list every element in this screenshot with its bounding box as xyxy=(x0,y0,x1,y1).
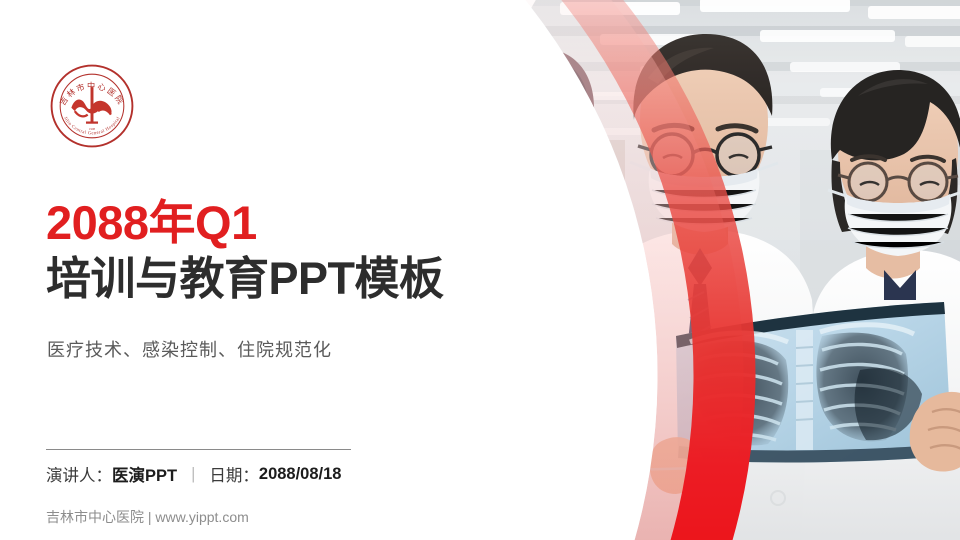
speaker-name: 医演PPT xyxy=(112,462,177,486)
hospital-logo: 吉林市中心医院 Jilin Central General Hospital 1… xyxy=(49,63,135,149)
presenter-meta: 演讲人： 医演PPT | 日期： 2088/08/18 xyxy=(46,462,341,486)
presentation-slide: 吉林市中心医院 Jilin Central General Hospital 1… xyxy=(0,0,960,540)
title-block: 2088年Q1 培训与教育PPT模板 xyxy=(46,196,516,306)
footer-divider xyxy=(46,449,351,450)
page-subtitle: 医疗技术、感染控制、住院规范化 xyxy=(47,336,332,362)
speaker-label: 演讲人： xyxy=(46,462,112,486)
footer-organization: 吉林市中心医院 | www.yippt.com xyxy=(46,507,249,527)
logo-year: 1908 xyxy=(89,127,96,131)
page-title-main: 培训与教育PPT模板 xyxy=(46,252,516,306)
date-value: 2088/08/18 xyxy=(259,465,342,484)
meta-separator: | xyxy=(191,465,195,484)
date-label: 日期： xyxy=(209,462,259,486)
page-title-year: 2088年Q1 xyxy=(46,196,516,250)
